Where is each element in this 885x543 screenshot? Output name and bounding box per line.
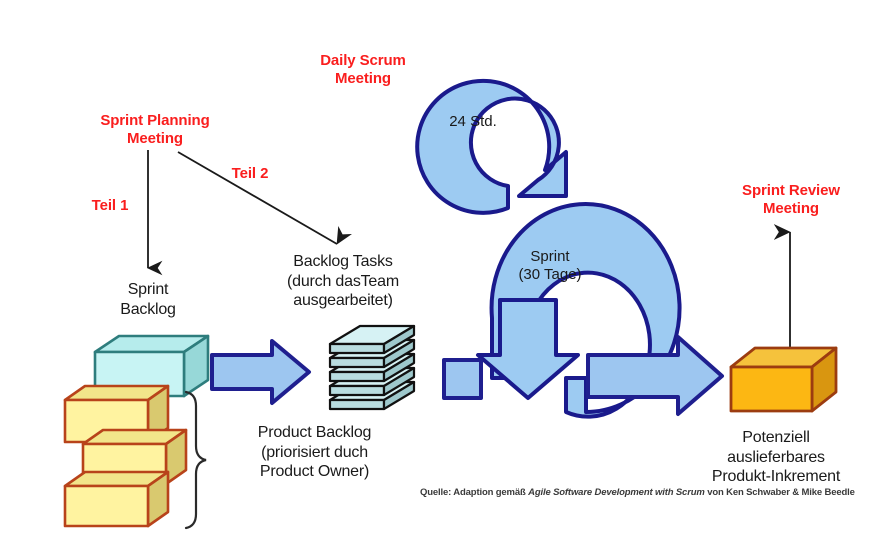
product-backlog-brace — [186, 392, 206, 528]
label-sprint-backlog: Sprint Backlog — [88, 280, 208, 319]
daily-cycle-arrow — [417, 81, 566, 213]
label-teil-1: Teil 1 — [80, 197, 140, 215]
label-product-backlog: Product Backlog (priorisiert duch Produc… — [232, 423, 397, 482]
product-increment-box — [731, 348, 836, 411]
label-sprint-review-meeting: Sprint Review Meeting — [716, 182, 866, 219]
product-backlog-box-3 — [65, 472, 168, 526]
label-backlog-tasks: Backlog Tasks (durch dasTeam ausgearbeit… — [263, 252, 423, 311]
label-product-increment: Potenziell auslieferbares Produkt-Inkrem… — [691, 428, 861, 487]
backlog-task-papers — [330, 326, 414, 409]
label-daily-scrum-meeting: Daily Scrum Meeting — [288, 52, 438, 89]
label-cycle-24-std: 24 Std. — [428, 113, 518, 131]
label-teil-2: Teil 2 — [220, 165, 280, 183]
source-book-title: Agile Software Development with — [528, 487, 676, 498]
source-prefix: Quelle: Adaption gemäß — [420, 487, 528, 498]
flow-arrow-1 — [212, 341, 309, 403]
source-book-title-2: Scrum — [676, 487, 705, 498]
scrum-process-diagram: Daily Scrum Meeting Sprint Planning Meet… — [0, 0, 885, 543]
source-suffix: von Ken Schwaber & Mike Beedle — [705, 487, 855, 498]
flow-arrow-2 — [444, 360, 481, 398]
label-cycle-sprint: Sprint (30 Tage) — [500, 248, 600, 285]
label-sprint-planning-meeting: Sprint Planning Meeting — [75, 112, 235, 149]
source-attribution: Quelle: Adaption gemäß Agile Software De… — [420, 487, 880, 499]
